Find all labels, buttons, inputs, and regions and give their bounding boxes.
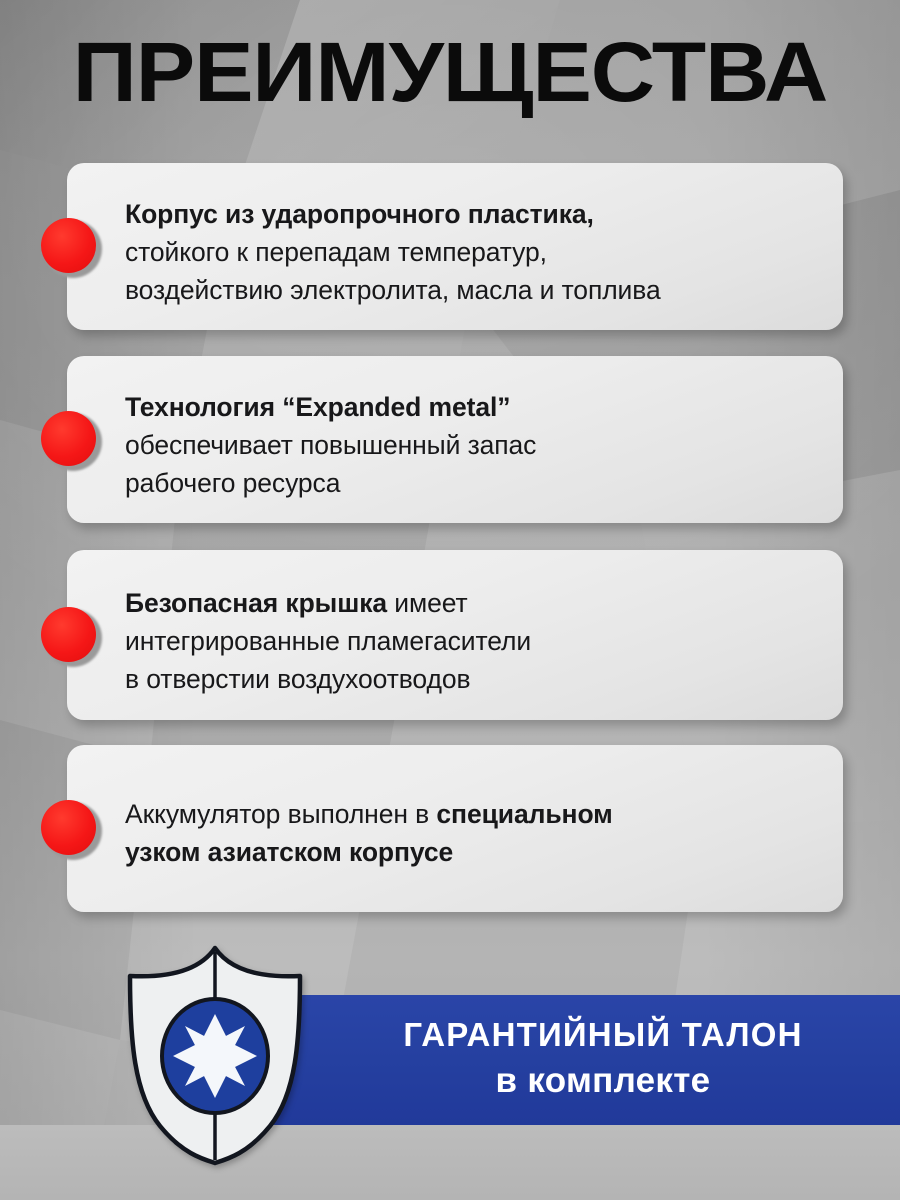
shield-emblem-icon	[120, 944, 310, 1166]
red-dot-icon	[28, 206, 108, 286]
guarantee-banner: ГАРАНТИЙНЫЙ ТАЛОН в комплекте	[252, 995, 900, 1125]
benefit-line: воздействию электролита, масла и топлива	[125, 275, 661, 305]
benefit-text: Технология “Expanded metal” обеспечивает…	[125, 388, 876, 502]
eight-point-star-icon	[173, 1014, 257, 1098]
benefit-line: рабочего ресурса	[125, 468, 340, 498]
red-dot-icon	[28, 399, 108, 479]
benefit-line: интегрированные пламегасители	[125, 626, 531, 656]
benefit-line-bold: Корпус из ударопрочного пластика,	[125, 199, 594, 229]
benefit-line-bold: специальном	[436, 799, 612, 829]
red-dot-icon	[28, 595, 108, 675]
benefit-text: Корпус из ударопрочного пластика, стойко…	[125, 195, 876, 309]
guarantee-line-2: в комплекте	[330, 1058, 876, 1104]
promo-page: ПРЕИМУЩЕСТВА Корпус из ударопрочного пла…	[0, 0, 900, 1200]
guarantee-banner-text: ГАРАНТИЙНЫЙ ТАЛОН в комплекте	[330, 1012, 876, 1104]
benefit-line-bold: Безопасная крышка	[125, 588, 387, 618]
guarantee-line-1: ГАРАНТИЙНЫЙ ТАЛОН	[330, 1012, 876, 1058]
red-dot	[41, 218, 96, 273]
benefit-line: Аккумулятор выполнен в	[125, 799, 436, 829]
red-dot-icon	[28, 788, 108, 868]
benefit-line: обеспечивает повышенный запас	[125, 430, 536, 460]
red-dot	[41, 607, 96, 662]
benefit-line-bold: узком азиатском корпусе	[125, 837, 453, 867]
red-dot	[41, 800, 96, 855]
page-title: ПРЕИМУЩЕСТВА	[0, 26, 900, 118]
benefit-text: Аккумулятор выполнен в специальном узком…	[125, 795, 876, 871]
benefit-line-rest: имеет	[387, 588, 468, 618]
benefit-text: Безопасная крышка имеет интегрированные …	[125, 584, 876, 698]
benefit-line: в отверстии воздухоотводов	[125, 664, 470, 694]
benefit-line: стойкого к перепадам температур,	[125, 237, 547, 267]
red-dot	[41, 411, 96, 466]
benefit-line-bold: Технология “Expanded metal”	[125, 392, 510, 422]
